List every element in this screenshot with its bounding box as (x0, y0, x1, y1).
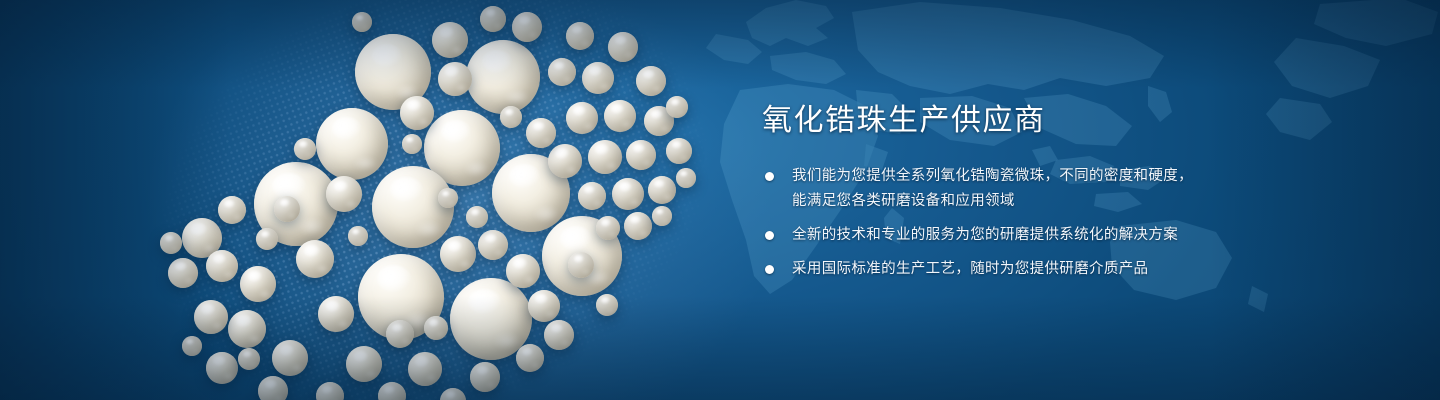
bullet-dot-icon (765, 172, 774, 181)
list-item-line: 能满足您各类研磨设备和应用领域 (792, 189, 1282, 214)
list-item: 我们能为您提供全系列氧化锆陶瓷微珠，不同的密度和硬度， 能满足您各类研磨设备和应… (762, 164, 1282, 214)
feature-list: 我们能为您提供全系列氧化锆陶瓷微珠，不同的密度和硬度， 能满足您各类研磨设备和应… (762, 164, 1282, 282)
list-item-line: 我们能为您提供全系列氧化锆陶瓷微珠，不同的密度和硬度， (792, 164, 1282, 189)
page-title: 氧化锆珠生产供应商 (762, 104, 1282, 138)
list-item: 全新的技术和专业的服务为您的研磨提供系统化的解决方案 (762, 223, 1282, 248)
bullet-dot-icon (765, 265, 774, 274)
list-item-line: 采用国际标准的生产工艺，随时为您提供研磨介质产品 (792, 257, 1282, 282)
list-item: 采用国际标准的生产工艺，随时为您提供研磨介质产品 (762, 257, 1282, 282)
banner-copy: 氧化锆珠生产供应商 我们能为您提供全系列氧化锆陶瓷微珠，不同的密度和硬度， 能满… (762, 104, 1282, 282)
bullet-dot-icon (765, 231, 774, 240)
product-hero-banner: 氧化锆珠生产供应商 我们能为您提供全系列氧化锆陶瓷微珠，不同的密度和硬度， 能满… (0, 0, 1440, 400)
list-item-line: 全新的技术和专业的服务为您的研磨提供系统化的解决方案 (792, 223, 1282, 248)
